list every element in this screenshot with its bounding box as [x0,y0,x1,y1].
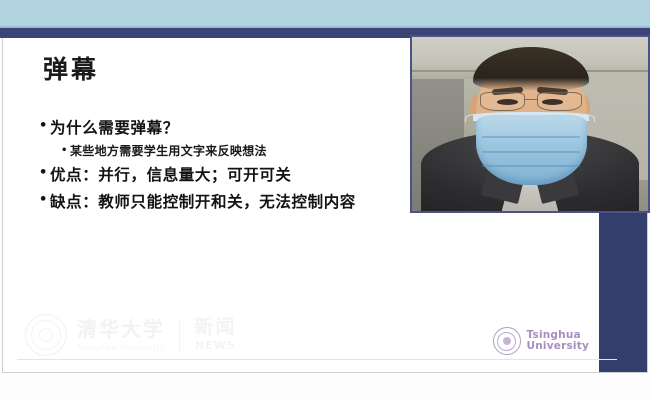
watermark-text-stack: 清华大学 Tsinghua University [77,319,165,352]
bullet-item: • 优点：并行，信息量大；可开可关 [39,165,419,184]
tsinghua-seal-icon [25,314,67,356]
watermark-university-en: Tsinghua University [77,343,165,352]
tsinghua-seal-purple-icon [493,327,521,355]
sub-bullet-text: 某些地方需要学生用文字来反映想法 [70,144,419,159]
slide-title: 弹幕 [43,56,99,84]
sub-bullet-item: • 某些地方需要学生用文字来反映想法 [61,144,419,159]
bullet-item: • 为什么需要弹幕？ [39,118,419,137]
watermark-university-cn: 清华大学 [77,319,165,339]
watermark-news-stack: 新闻 NEWS [194,318,236,352]
footer-watermark-left: 清华大学 Tsinghua University 新闻 NEWS [25,314,236,356]
watermark-news-cn: 新闻 [194,318,236,337]
slide-bullet-list: • 为什么需要弹幕？ • 某些地方需要学生用文字来反映想法 • 优点：并行，信息… [39,118,419,218]
mask-fold [482,136,580,137]
screen-capture: 弹幕 • 为什么需要弹幕？ • 某些地方需要学生用文字来反映想法 • 优点：并行… [0,0,650,400]
glasses-lens-left [480,92,525,111]
bullet-item: • 缺点：教师只能控制开和关，无法控制内容 [39,192,419,211]
glasses-bridge [525,99,537,100]
mask-fold [482,151,580,152]
mask-fold [482,165,580,166]
footer-logo-right: Tsinghua University [493,327,589,355]
bullet-marker-icon: • [39,165,50,181]
tsinghua-logo-text: Tsinghua University [527,330,589,353]
bullet-text: 为什么需要弹幕？ [50,118,419,137]
presenter-video-overlay[interactable] [410,35,650,213]
footer-divider [17,359,617,360]
bullet-marker-icon: • [39,118,50,134]
bullet-text: 优点：并行，信息量大；可开可关 [50,165,419,184]
glasses-lens-right [537,92,582,111]
watermark-news-en: NEWS [195,339,236,352]
top-blue-band [0,0,650,28]
bullet-marker-icon: • [61,144,70,157]
logo-line-2: University [527,341,589,352]
bullet-marker-icon: • [39,192,50,208]
watermark-divider [179,318,180,352]
slide-footer: 清华大学 Tsinghua University 新闻 NEWS Tsinghu… [3,312,647,372]
bullet-text: 缺点：教师只能控制开和关，无法控制内容 [50,192,419,211]
presenter-glasses-icon [480,92,581,111]
